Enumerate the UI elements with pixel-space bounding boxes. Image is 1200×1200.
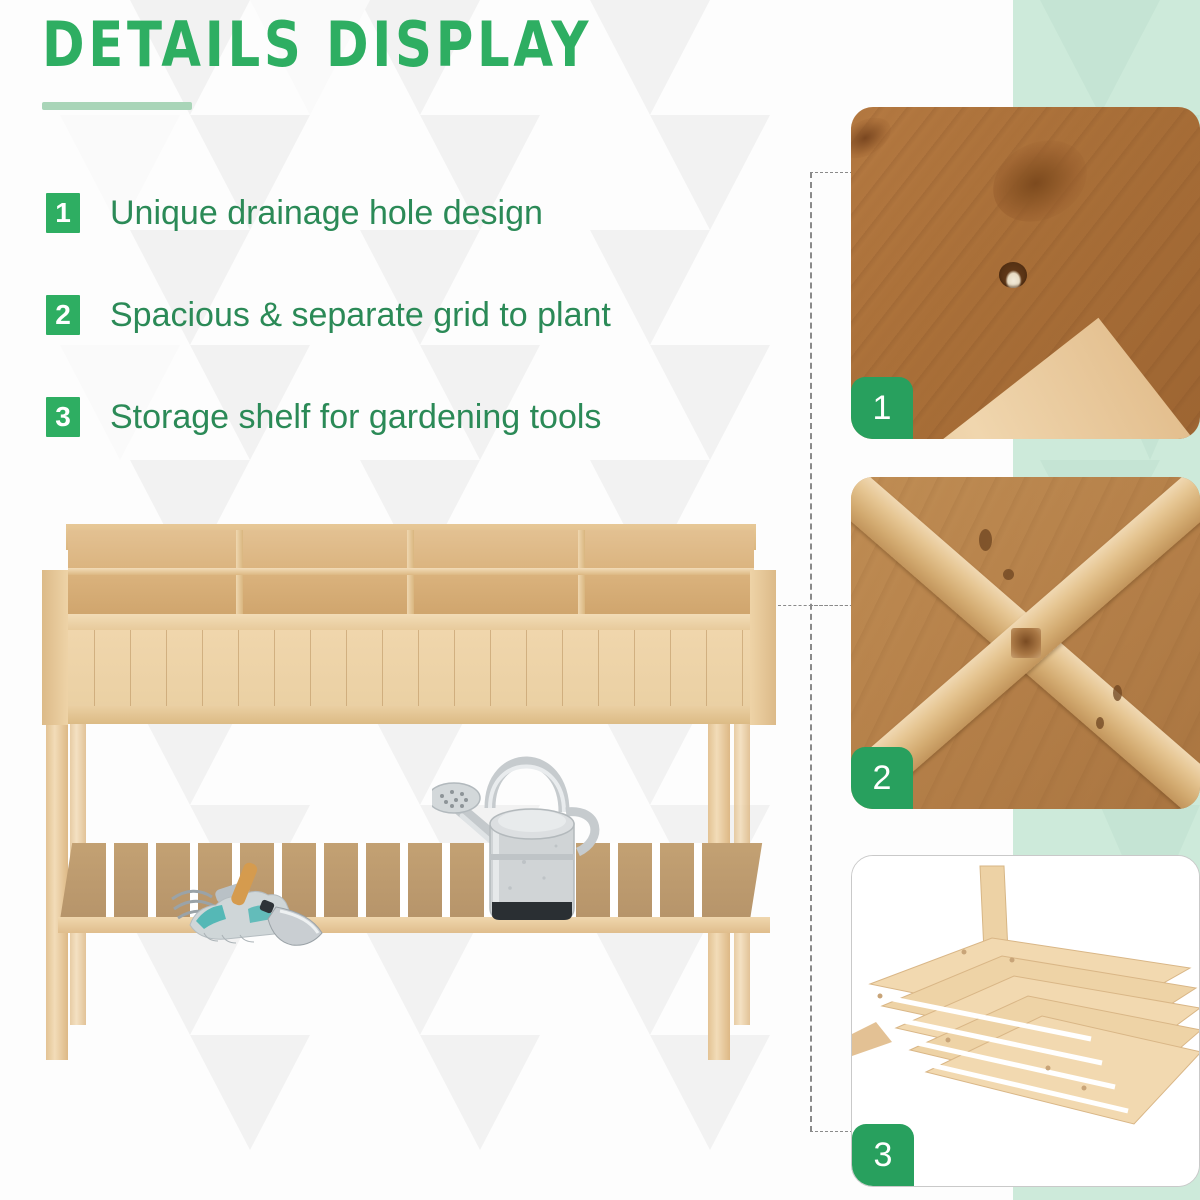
planter-right-side-panel <box>750 570 776 725</box>
feature-label-2: Spacious & separate grid to plant <box>110 296 611 335</box>
feature-list: 1 Unique drainage hole design 2 Spacious… <box>46 185 836 491</box>
feature-item-2: 2 Spacious & separate grid to plant <box>46 287 836 343</box>
panel-badge-2: 2 <box>851 747 913 809</box>
detail-panel-3-storage-shelf[interactable]: 3 <box>851 855 1200 1187</box>
planter-bottom-rail <box>50 706 772 724</box>
can-base-ring <box>492 902 572 920</box>
panel-badge-3: 3 <box>852 1124 914 1186</box>
connector-vertical-dashed-line <box>810 172 812 1132</box>
page-title: DETAILS DISPLAY <box>42 14 796 76</box>
planter-left-side-panel <box>42 570 68 725</box>
planter-box <box>28 510 780 700</box>
can-band <box>490 854 574 860</box>
can-top-handle <box>490 762 564 812</box>
feature-item-1: 1 Unique drainage hole design <box>46 185 836 241</box>
detail-panel-2-grid-divider[interactable]: 2 <box>851 477 1200 809</box>
galvanized-watering-can <box>432 712 632 930</box>
drainage-hole-icon <box>999 262 1027 288</box>
detail-panel-1-drainage-hole[interactable]: 1 <box>851 107 1200 439</box>
header: DETAILS DISPLAY <box>42 14 862 110</box>
feature-label-3: Storage shelf for gardening tools <box>110 398 601 437</box>
gardening-gloves-and-tools <box>160 855 420 955</box>
wood-spot-1 <box>979 529 992 551</box>
wood-spot-2 <box>1003 569 1014 580</box>
feature-badge-1: 1 <box>46 193 80 233</box>
feature-badge-2: 2 <box>46 295 80 335</box>
panel-badge-1: 1 <box>851 377 913 439</box>
wood-spot-3 <box>1113 685 1122 701</box>
planter-front-siding <box>58 630 764 710</box>
feature-label-1: Unique drainage hole design <box>110 194 543 233</box>
product-image-raised-planter <box>8 495 798 1075</box>
title-underline-rule <box>42 102 192 110</box>
grid-divider-center-joint <box>1011 628 1041 658</box>
feature-badge-3: 3 <box>46 397 80 437</box>
feature-item-3: 3 Storage shelf for gardening tools <box>46 389 836 445</box>
wood-spot-4 <box>1096 717 1104 729</box>
grid-divider-horizontal-1 <box>68 568 754 575</box>
